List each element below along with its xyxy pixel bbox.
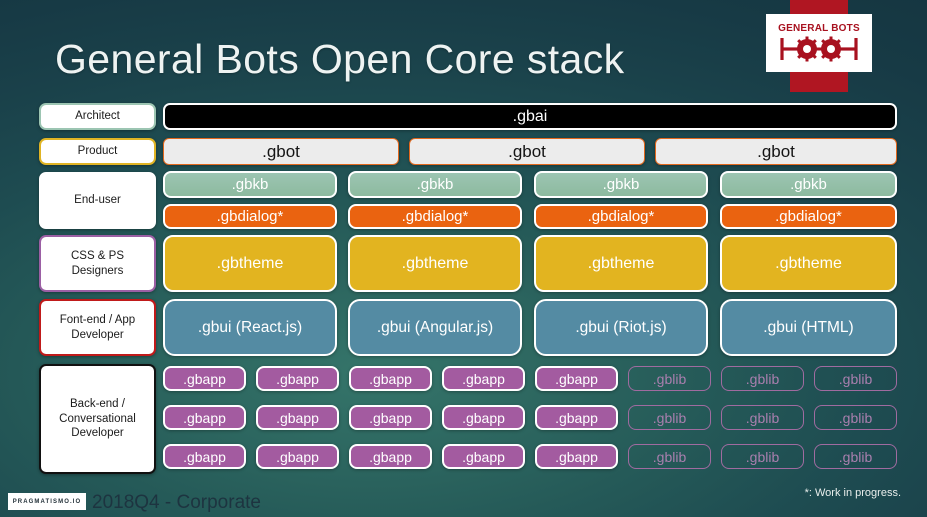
layer-cell-gbdialog[interactable]: .gbdialog*	[163, 204, 337, 229]
layer-cell-label: .gbtheme	[775, 255, 842, 273]
brand-logo: GENERAL BOTS	[766, 14, 872, 72]
layer-cell-gbkb[interactable]: .gbkb	[720, 171, 897, 198]
pragmatismo-logo-text: PRAGMATISMO.IO	[13, 499, 82, 505]
page-title: General Bots Open Core stack	[55, 36, 625, 83]
layer-cell-gbapp[interactable]: .gbapp	[349, 444, 432, 469]
role-label-text: End-user	[74, 193, 121, 207]
layer-cell-gbkb[interactable]: .gbkb	[348, 171, 522, 198]
brand-name: GENERAL BOTS	[778, 24, 860, 34]
layer-cell-gbdialog[interactable]: .gbdialog*	[720, 204, 897, 229]
layer-cell-label: .gbapp	[369, 410, 412, 426]
layer-cell-label: .gbapp	[462, 449, 505, 465]
layer-cell-label: .gbui (HTML)	[763, 319, 853, 337]
layer-cell-gbapp[interactable]: .gbapp	[442, 405, 525, 430]
layer-cell-gblib[interactable]: .gblib	[814, 405, 897, 430]
layer-cell-label: .gbtheme	[402, 255, 469, 273]
layer-cell-label: .gbot	[757, 142, 795, 162]
slide-canvas: General Bots Open Core stack GENERAL BOT…	[0, 0, 927, 517]
layer-cell-label: .gbtheme	[217, 255, 284, 273]
layer-cell-gblib[interactable]: .gblib	[628, 405, 711, 430]
layer-cell-gblib[interactable]: .gblib	[721, 366, 804, 391]
layer-cell-label: .gblib	[839, 449, 872, 465]
role-label-text: Back-end / Conversational Developer	[59, 397, 136, 440]
layer-cell-gbui-riot[interactable]: .gbui (Riot.js)	[534, 299, 708, 356]
layer-cell-gbot[interactable]: .gbot	[655, 138, 897, 165]
layer-cell-gbapp[interactable]: .gbapp	[256, 444, 339, 469]
layer-cell-label: .gbapp	[276, 410, 319, 426]
layer-cell-label: .gblib	[839, 410, 872, 426]
layer-cell-gbtheme[interactable]: .gbtheme	[163, 235, 337, 292]
layer-cell-gbot[interactable]: .gbot	[409, 138, 645, 165]
layer-cell-gbapp[interactable]: .gbapp	[535, 405, 618, 430]
layer-cell-label: .gblib	[653, 449, 686, 465]
layer-cell-label: .gbkb	[603, 176, 640, 193]
footer-label: 2018Q4 - Corporate	[92, 492, 261, 514]
layer-cell-label: .gbot	[262, 142, 300, 162]
layer-cell-gbapp[interactable]: .gbapp	[163, 366, 246, 391]
layer-cell-label: .gbdialog*	[588, 208, 655, 225]
layer-cell-label: .gbapp	[276, 449, 319, 465]
layer-cell-gbtheme[interactable]: .gbtheme	[348, 235, 522, 292]
footnote-work-in-progress: *: Work in progress.	[805, 487, 901, 499]
layer-cell-label: .gbtheme	[588, 255, 655, 273]
role-label-backend-conversational-developer[interactable]: Back-end / Conversational Developer	[39, 364, 156, 474]
layer-cell-label: .gbkb	[232, 176, 269, 193]
layer-cell-label: .gbapp	[369, 371, 412, 387]
layer-cell-label: .gbapp	[555, 449, 598, 465]
layer-cell-label: .gbdialog*	[402, 208, 469, 225]
layer-cell-gblib[interactable]: .gblib	[814, 366, 897, 391]
role-label-architect[interactable]: Architect	[39, 103, 156, 130]
layer-cell-label: .gbdialog*	[775, 208, 842, 225]
layer-cell-label: .gblib	[746, 449, 779, 465]
layer-cell-label: .gbapp	[183, 371, 226, 387]
layer-cell-gblib[interactable]: .gblib	[628, 366, 711, 391]
layer-cell-label: .gbui (Riot.js)	[575, 319, 666, 337]
layer-cell-gbkb[interactable]: .gbkb	[534, 171, 708, 198]
layer-cell-gbdialog[interactable]: .gbdialog*	[534, 204, 708, 229]
layer-cell-label: .gbapp	[276, 371, 319, 387]
layer-cell-gbapp[interactable]: .gbapp	[535, 366, 618, 391]
layer-cell-label: .gbapp	[369, 449, 412, 465]
layer-cell-gbtheme[interactable]: .gbtheme	[720, 235, 897, 292]
layer-cell-label: .gblib	[653, 410, 686, 426]
layer-cell-label: .gbot	[508, 142, 546, 162]
layer-cell-label: .gbapp	[462, 371, 505, 387]
layer-cell-label: .gbdialog*	[217, 208, 284, 225]
layer-cell-gbapp[interactable]: .gbapp	[535, 444, 618, 469]
pragmatismo-logo: PRAGMATISMO.IO	[8, 493, 86, 510]
layer-cell-label: .gblib	[653, 371, 686, 387]
role-label-end-user[interactable]: End-user	[39, 172, 156, 229]
role-label-css-ps-designers[interactable]: CSS & PS Designers	[39, 235, 156, 292]
layer-cell-label: .gbui (Angular.js)	[377, 319, 493, 337]
layer-cell-gblib[interactable]: .gblib	[721, 444, 804, 469]
layer-cell-gbapp[interactable]: .gbapp	[256, 405, 339, 430]
layer-cell-gbapp[interactable]: .gbapp	[163, 405, 246, 430]
layer-cell-gbtheme[interactable]: .gbtheme	[534, 235, 708, 292]
layer-cell-label: .gbai	[513, 108, 548, 126]
layer-cell-gbapp[interactable]: .gbapp	[349, 366, 432, 391]
layer-cell-gbapp[interactable]: .gbapp	[163, 444, 246, 469]
layer-cell-gbdialog[interactable]: .gbdialog*	[348, 204, 522, 229]
layer-cell-gbui-html[interactable]: .gbui (HTML)	[720, 299, 897, 356]
gears-logo-icon	[775, 35, 863, 63]
layer-cell-gbkb[interactable]: .gbkb	[163, 171, 337, 198]
layer-cell-gblib[interactable]: .gblib	[628, 444, 711, 469]
layer-cell-gbapp[interactable]: .gbapp	[349, 405, 432, 430]
layer-cell-label: .gbui (React.js)	[198, 319, 302, 337]
layer-cell-gbapp[interactable]: .gbapp	[256, 366, 339, 391]
layer-cell-label: .gbapp	[462, 410, 505, 426]
layer-cell-gbai[interactable]: .gbai	[163, 103, 897, 130]
layer-cell-gblib[interactable]: .gblib	[814, 444, 897, 469]
role-label-text: Product	[78, 144, 118, 158]
layer-cell-gbot[interactable]: .gbot	[163, 138, 399, 165]
role-label-text: Font-end / App Developer	[60, 313, 135, 342]
layer-cell-label: .gblib	[746, 371, 779, 387]
layer-cell-gbui-angular[interactable]: .gbui (Angular.js)	[348, 299, 522, 356]
layer-cell-label: .gblib	[746, 410, 779, 426]
layer-cell-label: .gbapp	[555, 371, 598, 387]
role-label-frontend-app-developer[interactable]: Font-end / App Developer	[39, 299, 156, 356]
layer-cell-label: .gbapp	[183, 449, 226, 465]
layer-cell-gbui-react[interactable]: .gbui (React.js)	[163, 299, 337, 356]
layer-cell-gblib[interactable]: .gblib	[721, 405, 804, 430]
layer-cell-label: .gblib	[839, 371, 872, 387]
role-label-text: Architect	[75, 109, 120, 123]
layer-cell-label: .gbkb	[417, 176, 454, 193]
layer-cell-label: .gbapp	[555, 410, 598, 426]
role-label-text: CSS & PS Designers	[71, 249, 124, 278]
layer-cell-label: .gbkb	[790, 176, 827, 193]
layer-cell-gbapp[interactable]: .gbapp	[442, 444, 525, 469]
layer-cell-label: .gbapp	[183, 410, 226, 426]
layer-cell-gbapp[interactable]: .gbapp	[442, 366, 525, 391]
role-label-product[interactable]: Product	[39, 138, 156, 165]
